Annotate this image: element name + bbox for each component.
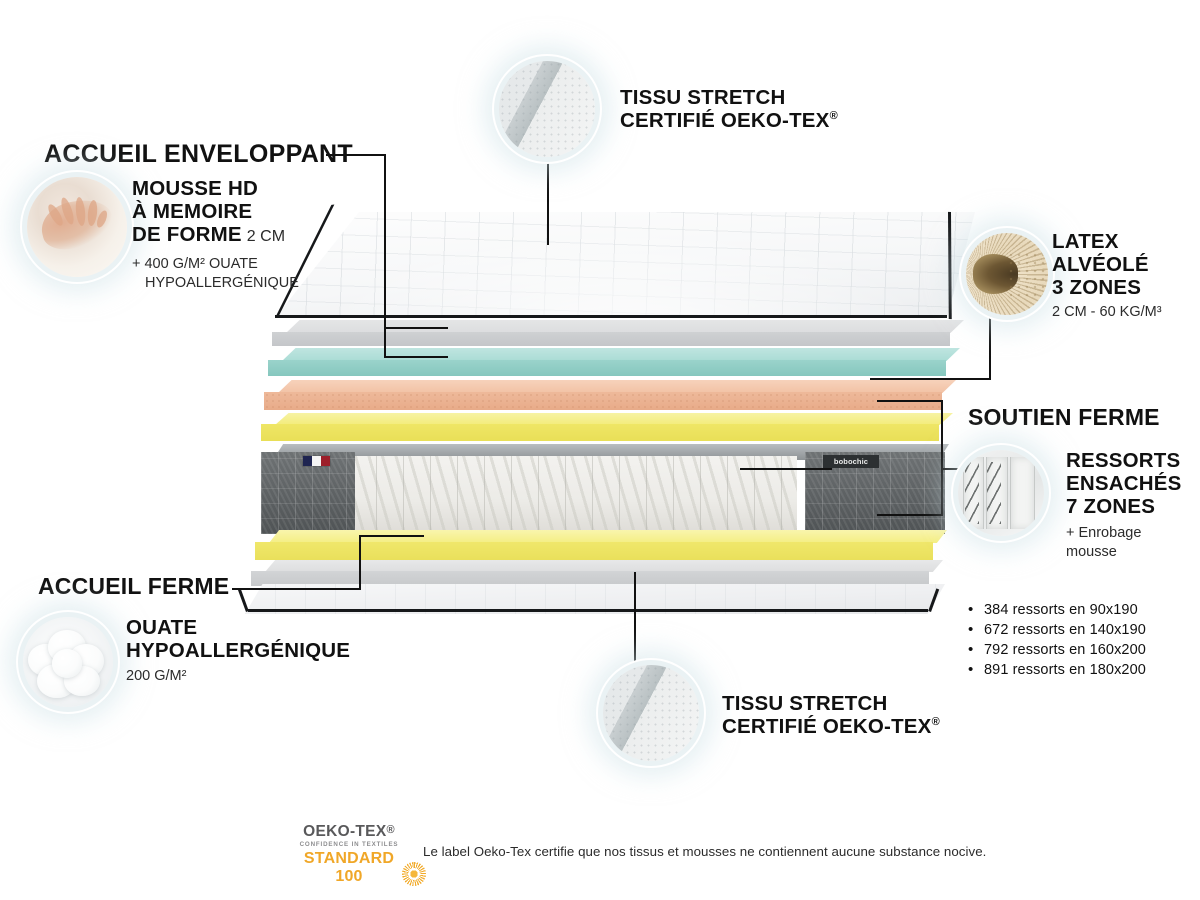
leader-ressorts-core-pointer	[740, 468, 832, 470]
ouate-line2: HYPOALLERGÉNIQUE	[126, 640, 350, 663]
accueil-ferme-title: ACCUEIL FERME	[38, 574, 229, 600]
mattress-layer-yellow-foam-upper	[261, 413, 953, 441]
mousse-hd-thickness: 2 CM	[247, 228, 285, 246]
leader-latex-horizontal	[870, 378, 991, 380]
ouate-weight-note: 200 G/M²	[126, 668, 350, 684]
list-item: • 384 ressorts en 90x190	[968, 600, 1146, 620]
mattress-layer-mint-memory-foam	[268, 348, 960, 376]
mousse-hd-note-line2: HYPOALLERGÉNIQUE	[132, 274, 332, 293]
mousse-hd-line2: À MEMOIRE	[132, 201, 332, 224]
tissu-stretch-bottom-line1: TISSU STRETCH	[722, 693, 940, 716]
leader-accueil-enveloppant-arm-grey	[384, 327, 448, 329]
oeko-tex-logo: OEKO-TEX ® CONFIDENCE IN TEXTILES STANDA…	[288, 824, 410, 886]
leader-accueil-enveloppant-arm-mint	[384, 356, 448, 358]
tissu-stretch-top-text: TISSU STRETCH CERTIFIÉ OEKO-TEX ®	[620, 87, 838, 133]
latex-line2: ALVÉOLÉ	[1052, 254, 1162, 277]
section-accueil-enveloppant: ACCUEIL ENVELOPPANT	[44, 140, 353, 168]
tissu-stretch-top-line1: TISSU STRETCH	[620, 87, 838, 110]
mattress-exploded-view: bobochic	[255, 200, 975, 580]
mattress-side-panel-left	[261, 452, 355, 534]
latex-density-note: 2 CM - 60 KG/M³	[1052, 304, 1162, 320]
pocket-spring-icon	[953, 445, 1049, 541]
list-item: • 891 ressorts en 180x200	[968, 660, 1146, 680]
memory-foam-icon	[22, 172, 132, 282]
latex-icon	[961, 228, 1053, 320]
list-item: • 792 ressorts en 160x200	[968, 640, 1146, 660]
stretch-fabric-icon-bottom	[598, 660, 704, 766]
ressorts-line1: RESSORTS	[1066, 450, 1182, 473]
leader-tissu-stretch-bottom	[634, 572, 636, 667]
tissu-stretch-bottom-line2: CERTIFIÉ OEKO-TEX	[722, 716, 932, 739]
leader-tissu-stretch-top	[547, 160, 549, 245]
ouate-text-block: OUATE HYPOALLERGÉNIQUE 200 G/M²	[126, 617, 350, 684]
french-flag-badge	[303, 456, 330, 466]
list-item: • 672 ressorts en 140x190	[968, 620, 1146, 640]
spring-count-2: 792 ressorts en 160x200	[984, 641, 1146, 660]
mousse-hd-note-line1: + 400 G/M² OUATE	[132, 255, 332, 274]
bullet-icon: •	[968, 640, 984, 659]
brand-label-bobochic: bobochic	[823, 455, 879, 468]
oeko-logo-line1: OEKO-TEX	[303, 824, 386, 840]
mattress-side-panel-right: bobochic	[805, 452, 945, 534]
leader-latex-vertical	[989, 318, 991, 380]
oeko-logo-registered: ®	[386, 824, 394, 836]
ressorts-note-line2: mousse	[1066, 543, 1182, 562]
tissu-stretch-top-line2: CERTIFIÉ OEKO-TEX	[620, 110, 830, 133]
bullet-icon: •	[968, 620, 984, 639]
latex-line3: 3 ZONES	[1052, 277, 1162, 300]
mattress-layer-pocket-spring-core: bobochic	[257, 444, 949, 534]
mattress-layer-peach-latex	[264, 380, 956, 410]
memory-foam-text-block: MOUSSE HD À MEMOIRE DE FORME 2 CM + 400 …	[132, 178, 332, 293]
mattress-layer-grey-base	[251, 560, 943, 586]
wadding-icon	[18, 612, 118, 712]
spring-count-0: 384 ressorts en 90x190	[984, 601, 1138, 620]
latex-line1: LATEX	[1052, 231, 1162, 254]
latex-text-block: LATEX ALVÉOLÉ 3 ZONES 2 CM - 60 KG/M³	[1052, 231, 1162, 320]
mousse-hd-line1: MOUSSE HD	[132, 178, 332, 201]
leader-ressorts-arm-bottom	[877, 514, 943, 516]
bullet-icon: •	[968, 600, 984, 619]
leader-ressorts-arm-top	[877, 400, 943, 402]
leader-accueil-ferme-horizontal	[232, 588, 361, 590]
ressorts-note-line1: + Enrobage	[1066, 524, 1182, 543]
bullet-icon: •	[968, 660, 984, 679]
stretch-fabric-icon-top	[494, 56, 600, 162]
leader-accueil-ferme-vertical	[359, 535, 361, 590]
brand-label-text: bobochic	[834, 457, 868, 466]
oeko-sun-icon	[402, 862, 426, 886]
oeko-logo-line3: STANDARD 100	[304, 850, 394, 885]
footer-certification: OEKO-TEX ® CONFIDENCE IN TEXTILES STANDA…	[0, 818, 1200, 888]
ressorts-line2: ENSACHÉS	[1066, 473, 1182, 496]
footer-disclaimer-text: Le label Oeko-Tex certifie que nos tissu…	[423, 844, 986, 859]
mousse-hd-line3: DE FORME	[132, 224, 242, 247]
ressorts-line3: 7 ZONES	[1066, 496, 1182, 519]
mattress-layer-grey-foam	[272, 320, 964, 346]
oeko-tex-registered-top: ®	[830, 110, 838, 122]
ouate-line1: OUATE	[126, 617, 350, 640]
soutien-ferme-title: SOUTIEN FERME	[968, 405, 1160, 431]
spring-count-1: 672 ressorts en 140x190	[984, 621, 1146, 640]
leader-ressorts-vertical	[941, 400, 943, 516]
leader-accueil-ferme-arm	[359, 535, 424, 537]
tissu-stretch-bottom-text: TISSU STRETCH CERTIFIÉ OEKO-TEX ®	[722, 693, 940, 739]
oeko-logo-line2: CONFIDENCE IN TEXTILES	[288, 840, 410, 850]
spring-count-list: • 384 ressorts en 90x190 • 672 ressorts …	[968, 600, 1146, 680]
ressorts-text-block: RESSORTS ENSACHÉS 7 ZONES + Enrobage mou…	[1066, 450, 1182, 562]
oeko-tex-registered-bottom: ®	[932, 716, 940, 728]
infographic-canvas: bobochic	[0, 0, 1200, 900]
mattress-layer-quilted-cover-top	[275, 212, 975, 318]
accueil-enveloppant-title: ACCUEIL ENVELOPPANT	[44, 140, 353, 168]
spring-count-3: 891 ressorts en 180x200	[984, 661, 1146, 680]
